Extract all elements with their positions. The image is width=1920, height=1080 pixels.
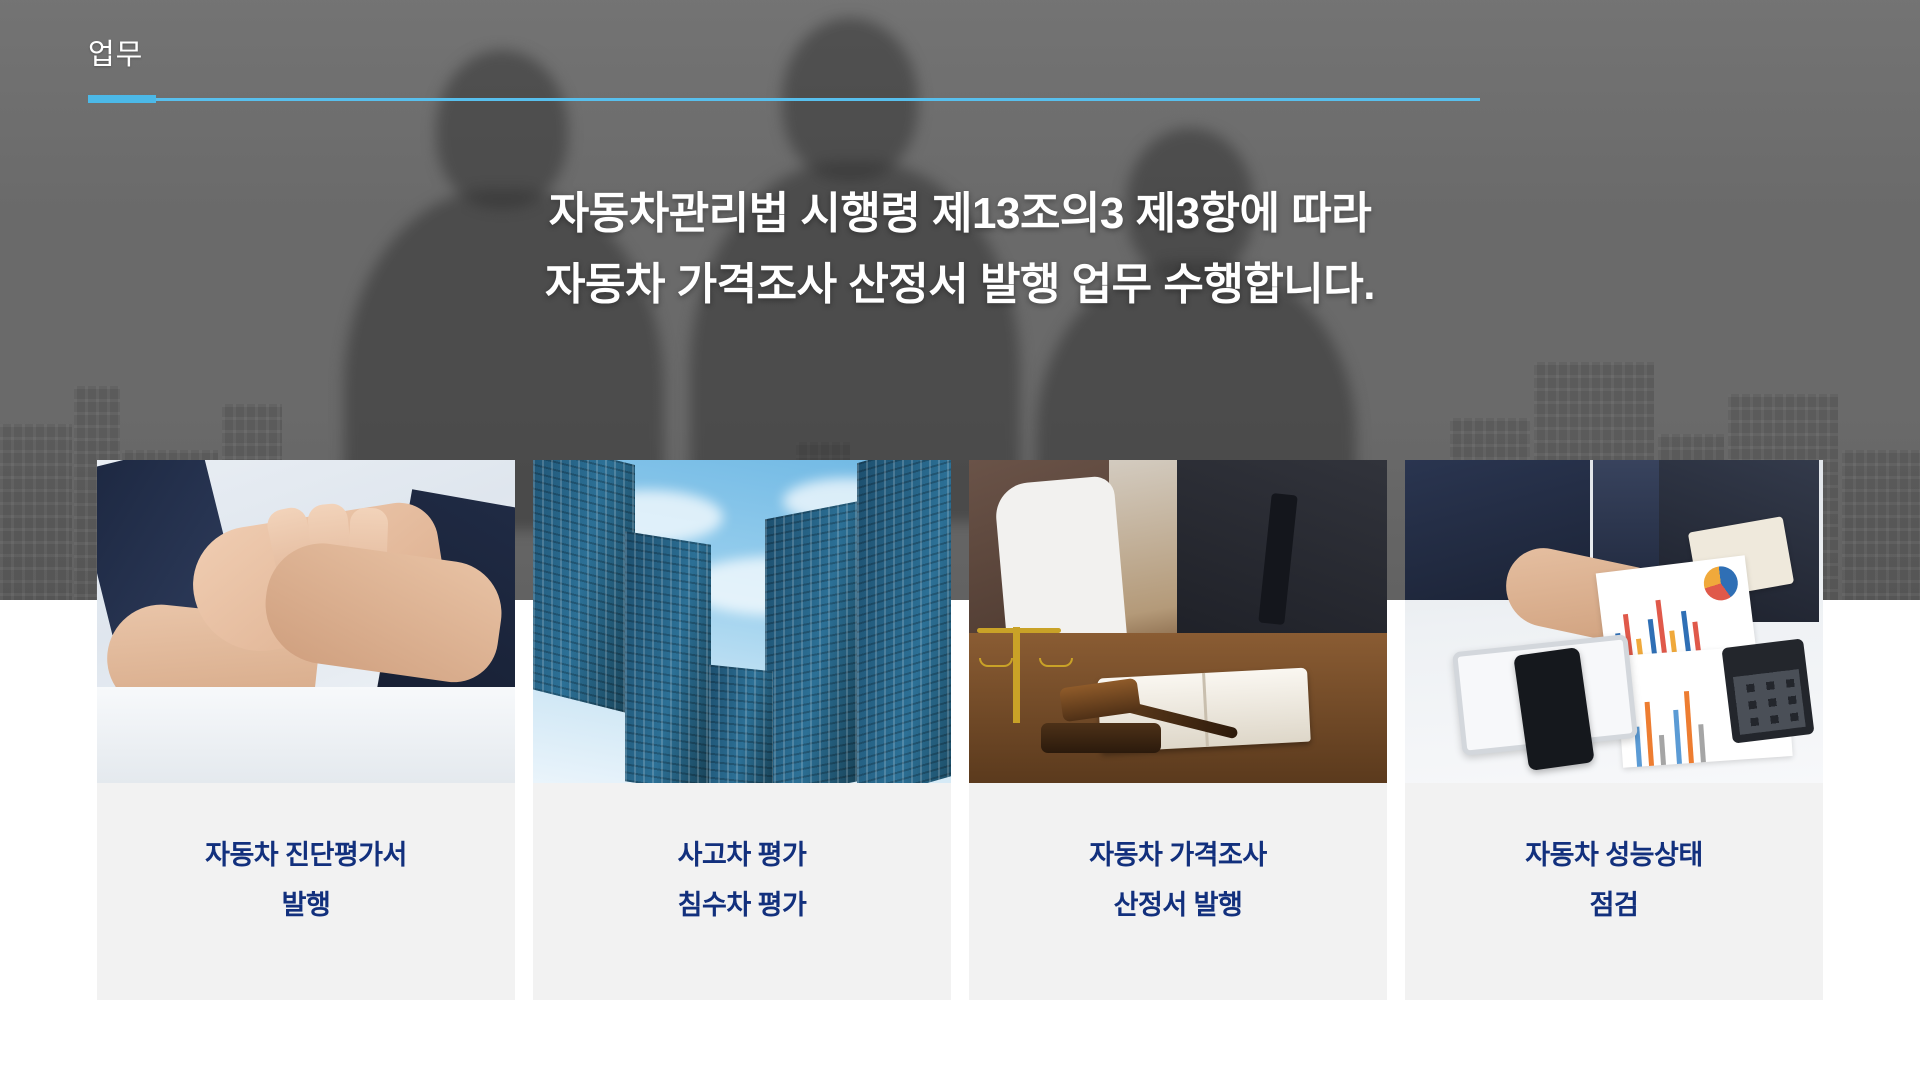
page-title: 업무 <box>88 38 1488 73</box>
service-card-4-caption: 자동차 성능상태 점검 <box>1405 783 1823 1000</box>
service-card-2[interactable]: 사고차 평가 침수차 평가 <box>533 460 951 1000</box>
service-card-grid: 자동차 진단평가서 발행 사고차 평가 침수차 평가 <box>97 460 1823 1000</box>
service-card-2-caption: 사고차 평가 침수차 평가 <box>533 783 951 1000</box>
service-card-3-caption: 자동차 가격조사 산정서 발행 <box>969 783 1387 1000</box>
title-underline-accent <box>88 95 156 103</box>
card-4-caption-line-2: 점검 <box>1590 881 1639 931</box>
headline-line-2: 자동차 가격조사 산정서 발행 업무 수행합니다. <box>0 249 1920 320</box>
card-1-caption-line-2: 발행 <box>282 881 331 931</box>
card-3-caption-line-1: 자동차 가격조사 <box>1089 831 1266 881</box>
skyscrapers-photo <box>533 460 951 783</box>
business-meeting-photo <box>1405 460 1823 783</box>
title-underline-rule <box>88 98 1480 101</box>
service-card-1-caption: 자동차 진단평가서 발행 <box>97 783 515 1000</box>
card-2-caption-line-2: 침수차 평가 <box>678 881 807 931</box>
hero-headline: 자동차관리법 시행령 제13조의3 제3항에 따라 자동차 가격조사 산정서 발… <box>0 178 1920 321</box>
service-card-4[interactable]: 자동차 성능상태 점검 <box>1405 460 1823 1000</box>
handshake-photo <box>97 460 515 783</box>
service-card-1[interactable]: 자동차 진단평가서 발행 <box>97 460 515 1000</box>
card-2-caption-line-1: 사고차 평가 <box>678 831 807 881</box>
card-3-caption-line-2: 산정서 발행 <box>1114 881 1243 931</box>
headline-line-1: 자동차관리법 시행령 제13조의3 제3항에 따라 <box>0 178 1920 249</box>
page-title-block: 업무 <box>88 38 1488 73</box>
service-card-3[interactable]: 자동차 가격조사 산정서 발행 <box>969 460 1387 1000</box>
gavel-law-photo <box>969 460 1387 783</box>
card-4-caption-line-1: 자동차 성능상태 <box>1525 831 1702 881</box>
card-1-caption-line-1: 자동차 진단평가서 <box>205 831 407 881</box>
